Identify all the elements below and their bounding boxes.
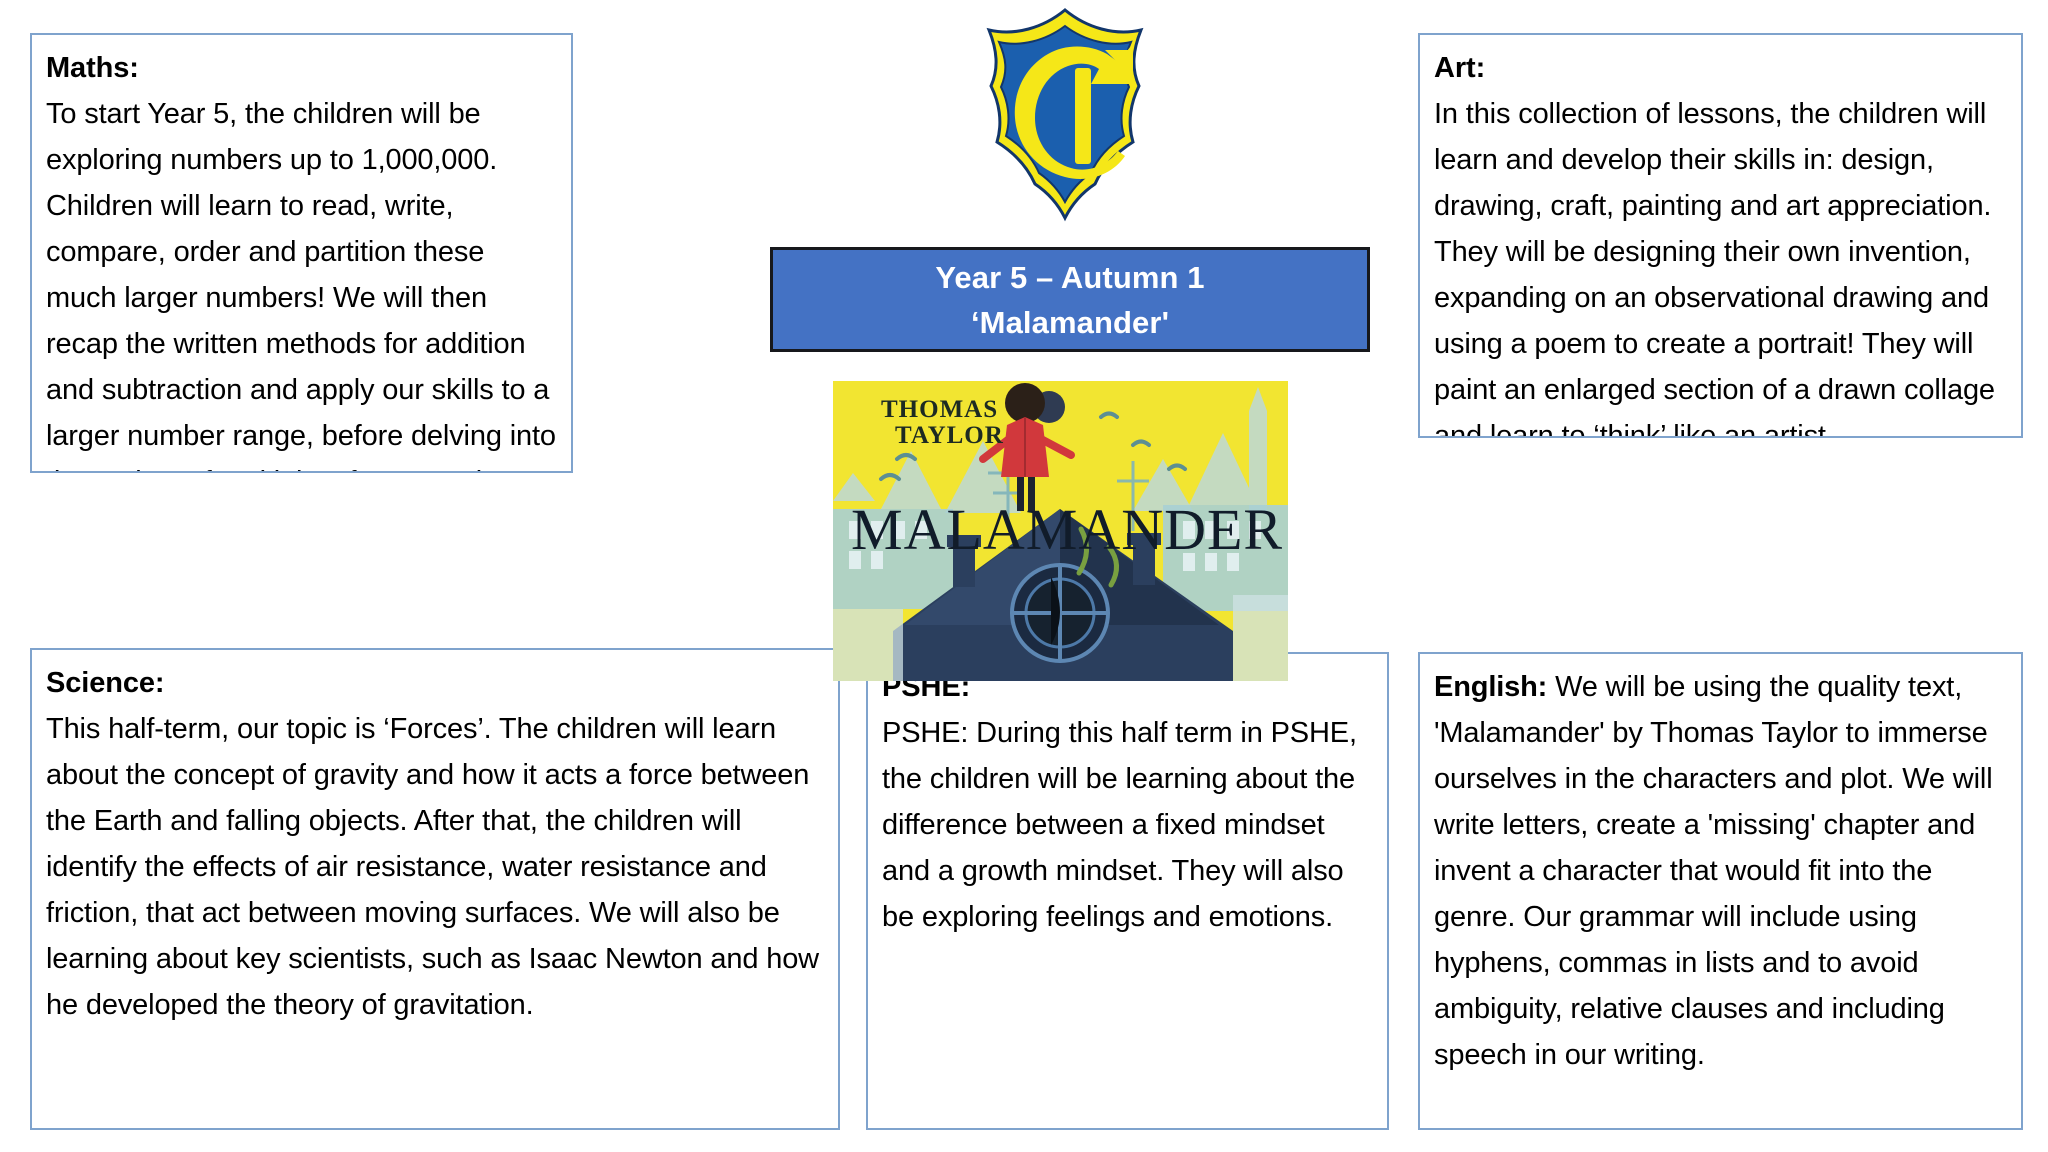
svg-text:MALAMANDER: MALAMANDER [851, 497, 1283, 562]
subject-card-science: Science: This half-term, our topic is ‘F… [30, 648, 840, 1130]
svg-text:TAYLOR: TAYLOR [895, 422, 1004, 449]
pshe-body-text: PSHE: During this half term in PSHE, the… [882, 710, 1373, 940]
english-paragraph: English: We will be using the quality te… [1434, 664, 2007, 1078]
subject-card-english: English: We will be using the quality te… [1418, 652, 2023, 1130]
english-body-text: We will be using the quality text, 'Mala… [1434, 671, 2000, 1071]
art-heading: Art: [1434, 45, 2007, 91]
title-banner: Year 5 – Autumn 1 ‘Malamander' [770, 247, 1370, 352]
book-cover-image: THOMAS TAYLOR MALAMANDER [833, 381, 1288, 681]
school-crest-icon [955, 6, 1175, 226]
subject-card-art: Art: In this collection of lessons, the … [1418, 33, 2023, 438]
science-body-text: This half-term, our topic is ‘Forces’. T… [46, 706, 824, 1028]
maths-body-text: To start Year 5, the children will be ex… [46, 91, 557, 473]
maths-heading: Maths: [46, 45, 557, 91]
subject-card-maths: Maths: To start Year 5, the children wil… [30, 33, 573, 473]
subject-card-pshe: PSHE: PSHE: During this half term in PSH… [866, 652, 1389, 1130]
curriculum-overview-page: Maths: To start Year 5, the children wil… [0, 0, 2048, 1152]
banner-line-1: Year 5 – Autumn 1 [935, 255, 1204, 300]
banner-line-2: ‘Malamander' [971, 300, 1169, 345]
svg-text:THOMAS: THOMAS [881, 396, 998, 423]
art-body-text: In this collection of lessons, the child… [1434, 91, 2007, 438]
science-heading: Science: [46, 660, 824, 706]
english-heading: English: [1434, 671, 1547, 703]
